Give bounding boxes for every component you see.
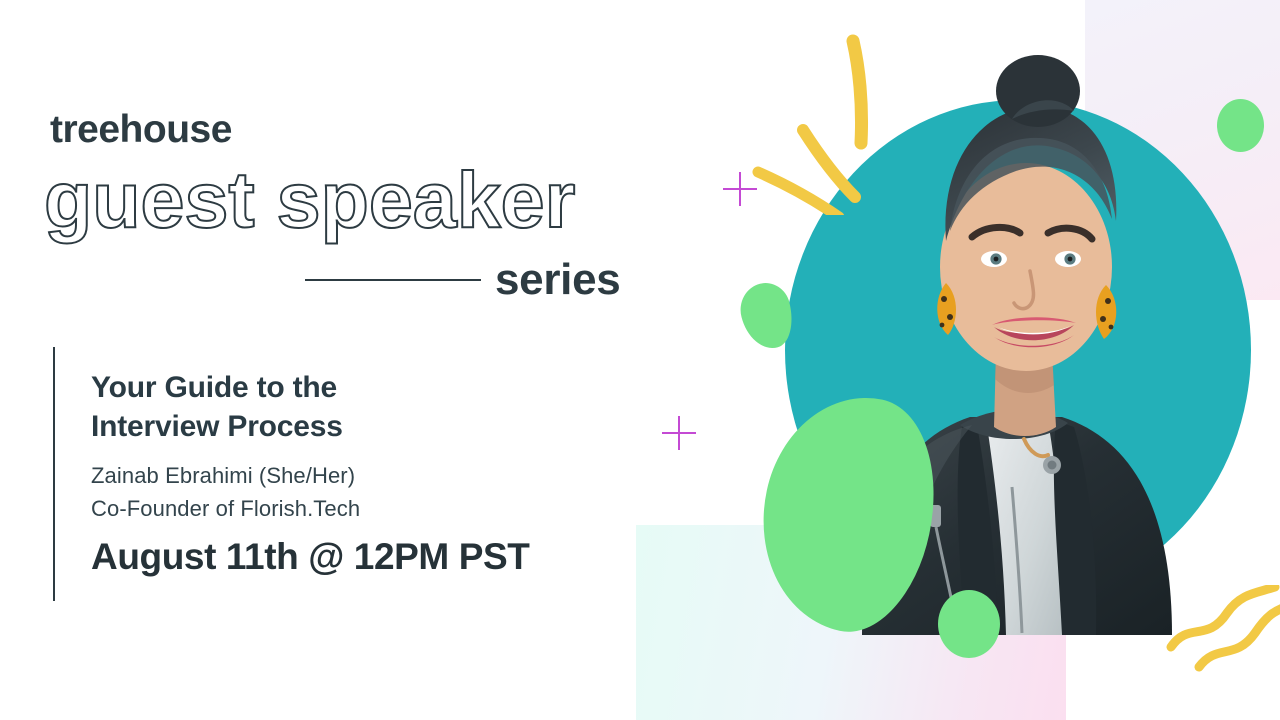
plus-icon-upper: [723, 172, 757, 206]
talk-title-line-2: Interview Process: [91, 407, 521, 446]
series-divider-rule: [305, 279, 481, 281]
plus-icon-lower: [662, 416, 696, 450]
speaker-role: Co-Founder of Florish.Tech: [91, 496, 360, 522]
talk-title-line-1: Your Guide to the: [91, 368, 521, 407]
plus-vertical-bar: [739, 172, 741, 206]
green-blob-small: [938, 590, 1000, 658]
plus-vertical-bar: [678, 416, 680, 450]
series-label: series: [495, 255, 620, 305]
headline-guest-speaker: guest speaker: [44, 160, 575, 239]
speaker-name: Zainab Ebrahimi (She/Her): [91, 463, 355, 489]
promo-slide: treehouse guest speaker series Your Guid…: [0, 0, 1280, 720]
vertical-accent-rule: [53, 347, 55, 601]
brand-wordmark: treehouse: [50, 108, 232, 152]
talk-title: Your Guide to the Interview Process: [91, 368, 521, 447]
event-datetime: August 11th @ 12PM PST: [91, 536, 529, 578]
wavy-lines-icon: [1165, 585, 1280, 675]
